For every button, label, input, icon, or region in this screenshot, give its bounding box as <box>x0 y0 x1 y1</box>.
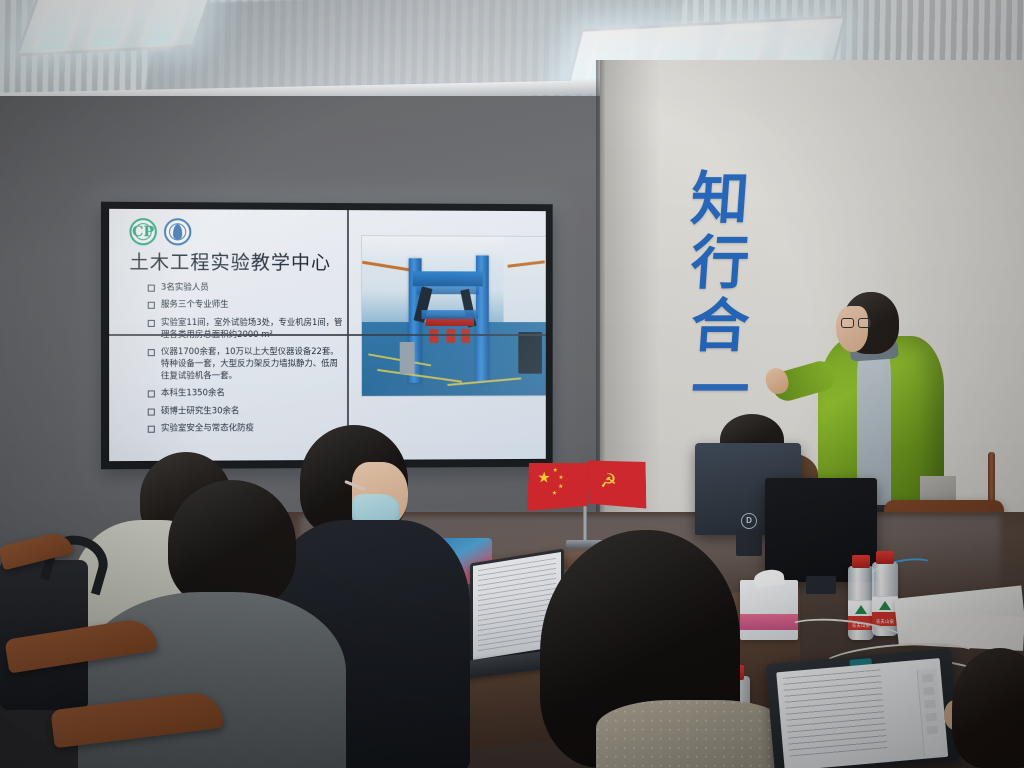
attendee-woman-top <box>596 700 786 768</box>
slide-bullet: 硕博士研究生30余名 <box>148 405 345 418</box>
bottle-cap <box>852 555 870 568</box>
slide-lab-photo <box>361 235 546 397</box>
flag-cpc: ☭ <box>588 459 647 509</box>
cpc-emblem-icon: ☭ <box>600 470 624 490</box>
tablet-right[interactable] <box>765 648 960 768</box>
flag-china: ★ ★ ★ ★ ★ <box>527 461 589 513</box>
attendee-grey-sweater-head <box>168 480 296 608</box>
calligraphy-char-1: 知 <box>689 172 751 228</box>
bottle-cap <box>876 551 894 564</box>
calligraphy-char-4: 一 <box>691 363 749 411</box>
logo-green-circular-icon: CP <box>129 218 156 245</box>
presenter-face <box>836 306 868 352</box>
slide-bullet: 实验室安全与常态化防疫 <box>148 422 345 435</box>
wall-calligraphy: 知 行 合 一 <box>660 172 780 411</box>
logo-blue-circular-icon <box>164 218 191 245</box>
conference-room-scene: 知 行 合 一 CP 土木工程实验教学中心 3名实验人员 服务三个专业师生 <box>0 0 1024 768</box>
video-wall-display[interactable]: CP 土木工程实验教学中心 3名实验人员 服务三个专业师生 实验室11间，室外试… <box>101 202 553 470</box>
calligraphy-char-2: 行 <box>689 236 751 292</box>
slide-bullet: 实验室11间，室外试验场3处，专业机房1间，管理各类用房总面积约2000 m² <box>148 317 345 341</box>
slide-bullet: 服务三个专业师生 <box>148 299 345 311</box>
slide-bullet: 仪器1700余套，10万以上大型仪器设备22套。特种设备一套，大型反力架反力墙拟… <box>148 346 345 382</box>
slide-bullet: 本科生1350余名 <box>148 387 345 399</box>
dell-logo-icon: D <box>741 513 757 529</box>
attendee-grey-sweater-body <box>78 592 346 768</box>
videowall-bezel-horizontal <box>109 334 546 336</box>
calligraphy-char-3: 合 <box>689 299 751 355</box>
slide-bullet: 3名实验人员 <box>148 282 345 294</box>
presenter-glasses-icon <box>841 318 871 328</box>
